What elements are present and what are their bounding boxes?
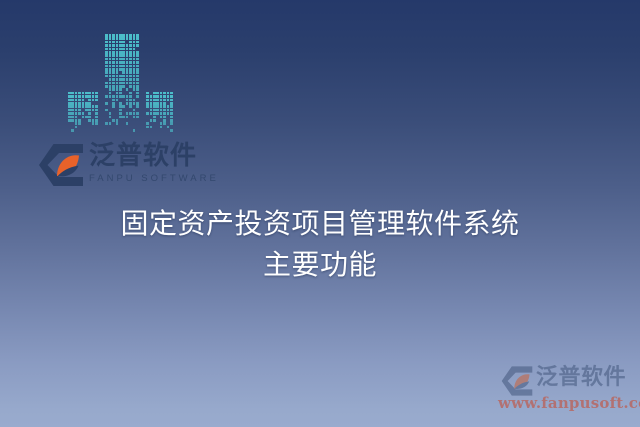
promo-banner: 泛普软件 FANPU SOFTWARE 固定资产投资项目管理软件系统 主要功能 …	[0, 0, 640, 427]
fanpu-logo-mark-icon	[37, 142, 85, 188]
watermark-brand-name: 泛普软件	[536, 364, 626, 392]
brand-logo: 泛普软件 FANPU SOFTWARE	[37, 141, 212, 193]
brand-name-en: FANPU SOFTWARE	[89, 172, 211, 185]
fanpu-logo-mark-watermark-icon	[500, 365, 534, 397]
pixel-city-skyline-icon	[68, 34, 168, 130]
page-title: 固定资产投资项目管理软件系统 主要功能	[0, 203, 640, 285]
watermark-url: www.fanpusoft.com	[498, 394, 640, 413]
brand-wordmark: 泛普软件 FANPU SOFTWARE	[89, 141, 211, 185]
page-title-line-1: 固定资产投资项目管理软件系统	[0, 203, 640, 244]
brand-name-cn: 泛普软件	[89, 141, 211, 171]
page-title-line-2: 主要功能	[0, 244, 640, 285]
watermark: 泛普软件 www.fanpusoft.com	[494, 363, 634, 419]
